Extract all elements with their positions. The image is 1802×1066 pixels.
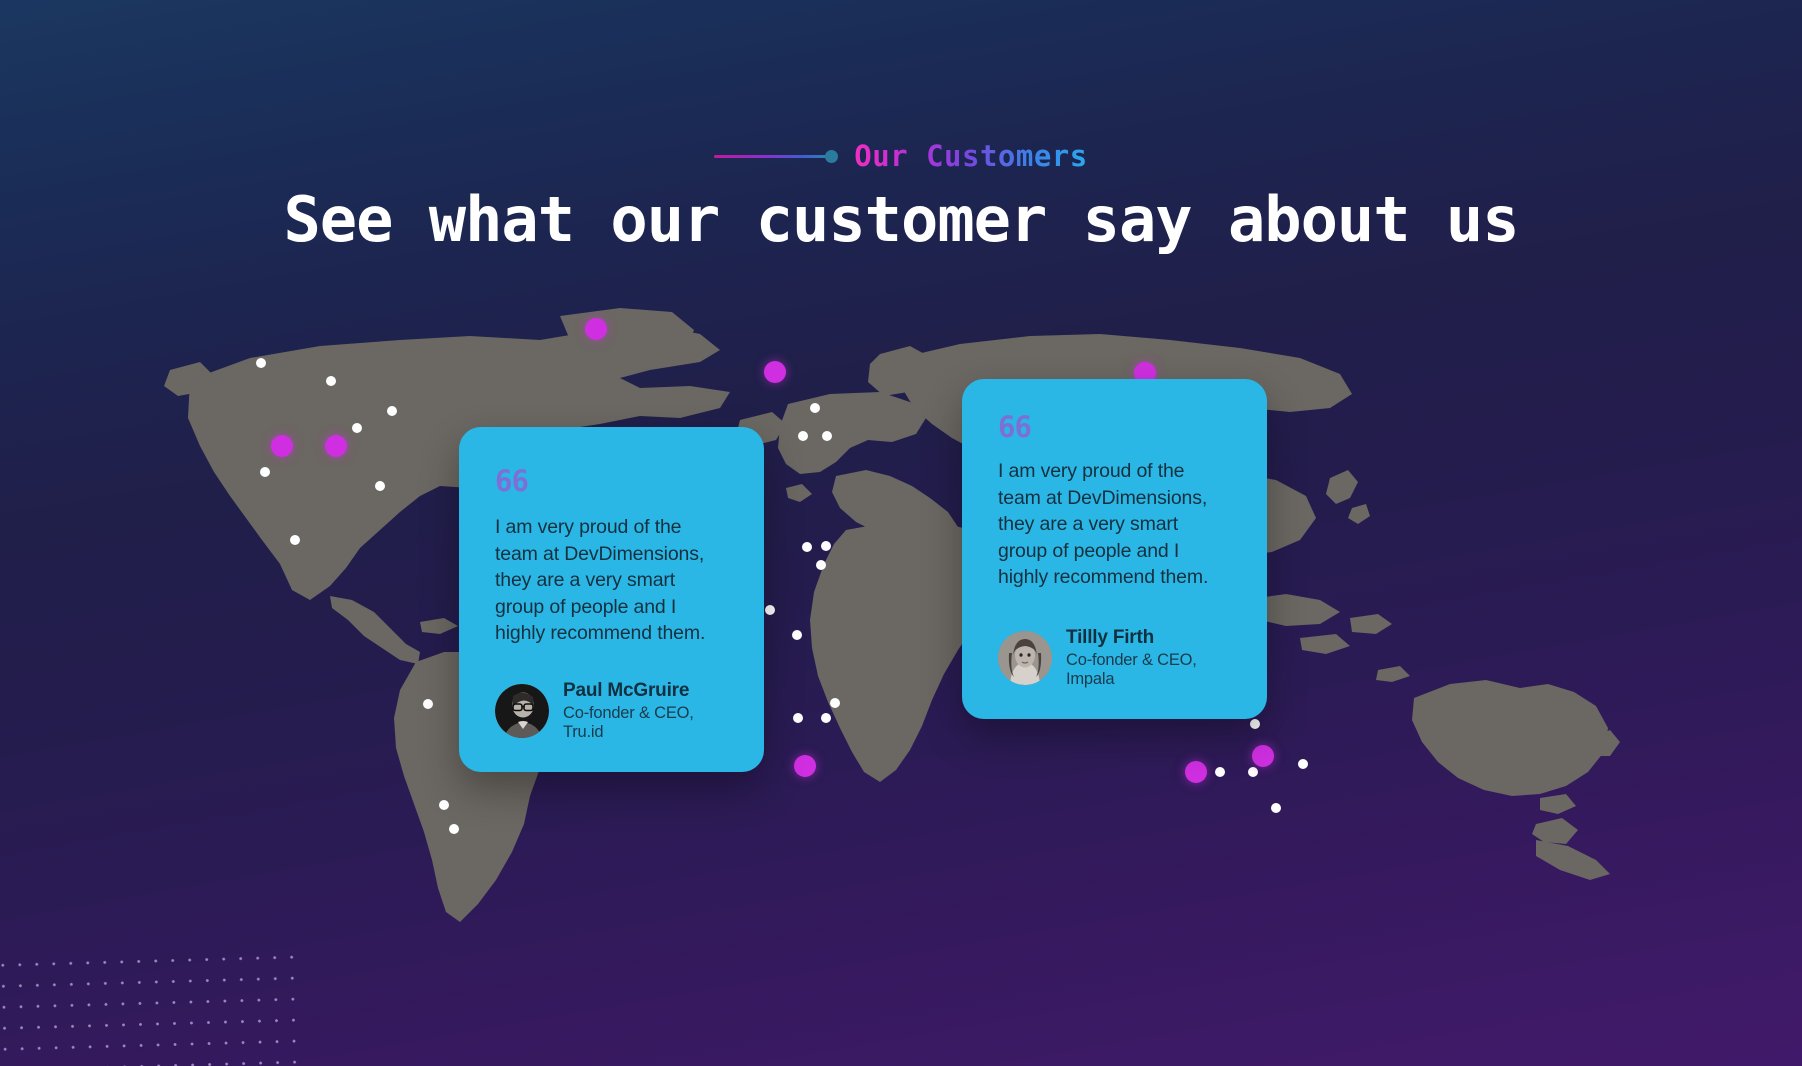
- map-marker-white: [816, 560, 826, 570]
- map-marker-white: [792, 630, 802, 640]
- testimonials-section: Our Customers See what our customer say …: [0, 0, 1802, 1066]
- avatar-paul-mcgruire: [495, 684, 549, 738]
- map-marker-white: [387, 406, 397, 416]
- author-name: Tillly Firth: [1066, 627, 1231, 649]
- map-marker-white: [1298, 759, 1308, 769]
- map-marker-white: [423, 699, 433, 709]
- map-marker-white: [326, 376, 336, 386]
- map-marker-white: [810, 403, 820, 413]
- quote-mark-icon: 66: [495, 467, 728, 496]
- map-marker-white: [798, 431, 808, 441]
- testimonial-card-paul-mcgruire[interactable]: 66 I am very proud of the team at DevDim…: [459, 427, 764, 772]
- map-marker-magenta: [325, 435, 347, 457]
- eyebrow-line: [714, 155, 826, 158]
- testimonial-author: Paul McGruire Co-fonder & CEO, Tru.id: [495, 680, 728, 742]
- map-marker-white: [793, 713, 803, 723]
- page-title: See what our customer say about us: [0, 183, 1802, 256]
- quote-mark-icon: 66: [998, 413, 1231, 442]
- map-marker-magenta: [271, 435, 293, 457]
- testimonial-author: Tillly Firth Co-fonder & CEO, Impala: [998, 627, 1231, 689]
- author-meta: Tillly Firth Co-fonder & CEO, Impala: [1066, 627, 1231, 689]
- eyebrow-dot-icon: [825, 150, 838, 163]
- map-marker-magenta: [1185, 761, 1207, 783]
- map-marker-white: [1215, 767, 1225, 777]
- map-marker-white: [260, 467, 270, 477]
- map-marker-magenta: [764, 361, 786, 383]
- map-marker-white: [802, 542, 812, 552]
- map-marker-magenta: [585, 318, 607, 340]
- map-marker-magenta: [794, 755, 816, 777]
- map-marker-white: [765, 605, 775, 615]
- testimonial-quote: I am very proud of the team at DevDimens…: [495, 514, 728, 647]
- map-marker-white: [352, 423, 362, 433]
- eyebrow-label: Our Customers: [854, 139, 1087, 173]
- map-marker-white: [1250, 719, 1260, 729]
- map-marker-white: [1271, 803, 1281, 813]
- testimonial-card-tillly-firth[interactable]: 66 I am very proud of the team at DevDim…: [962, 379, 1267, 719]
- author-role: Co-fonder & CEO, Tru.id: [563, 704, 728, 742]
- map-marker-white: [290, 535, 300, 545]
- map-marker-white: [375, 481, 385, 491]
- testimonial-quote: I am very proud of the team at DevDimens…: [998, 458, 1231, 591]
- map-marker-white: [449, 824, 459, 834]
- avatar-image: [998, 631, 1052, 685]
- author-role: Co-fonder & CEO, Impala: [1066, 651, 1231, 689]
- section-eyebrow: Our Customers: [0, 139, 1802, 173]
- map-marker-white: [1248, 767, 1258, 777]
- map-marker-white: [830, 698, 840, 708]
- map-marker-magenta: [1252, 745, 1274, 767]
- map-marker-white: [821, 713, 831, 723]
- map-marker-white: [256, 358, 266, 368]
- avatar-tillly-firth: [998, 631, 1052, 685]
- map-marker-white: [821, 541, 831, 551]
- author-name: Paul McGruire: [563, 680, 728, 702]
- avatar-image: [495, 684, 549, 738]
- map-marker-white: [439, 800, 449, 810]
- map-marker-white: [822, 431, 832, 441]
- author-meta: Paul McGruire Co-fonder & CEO, Tru.id: [563, 680, 728, 742]
